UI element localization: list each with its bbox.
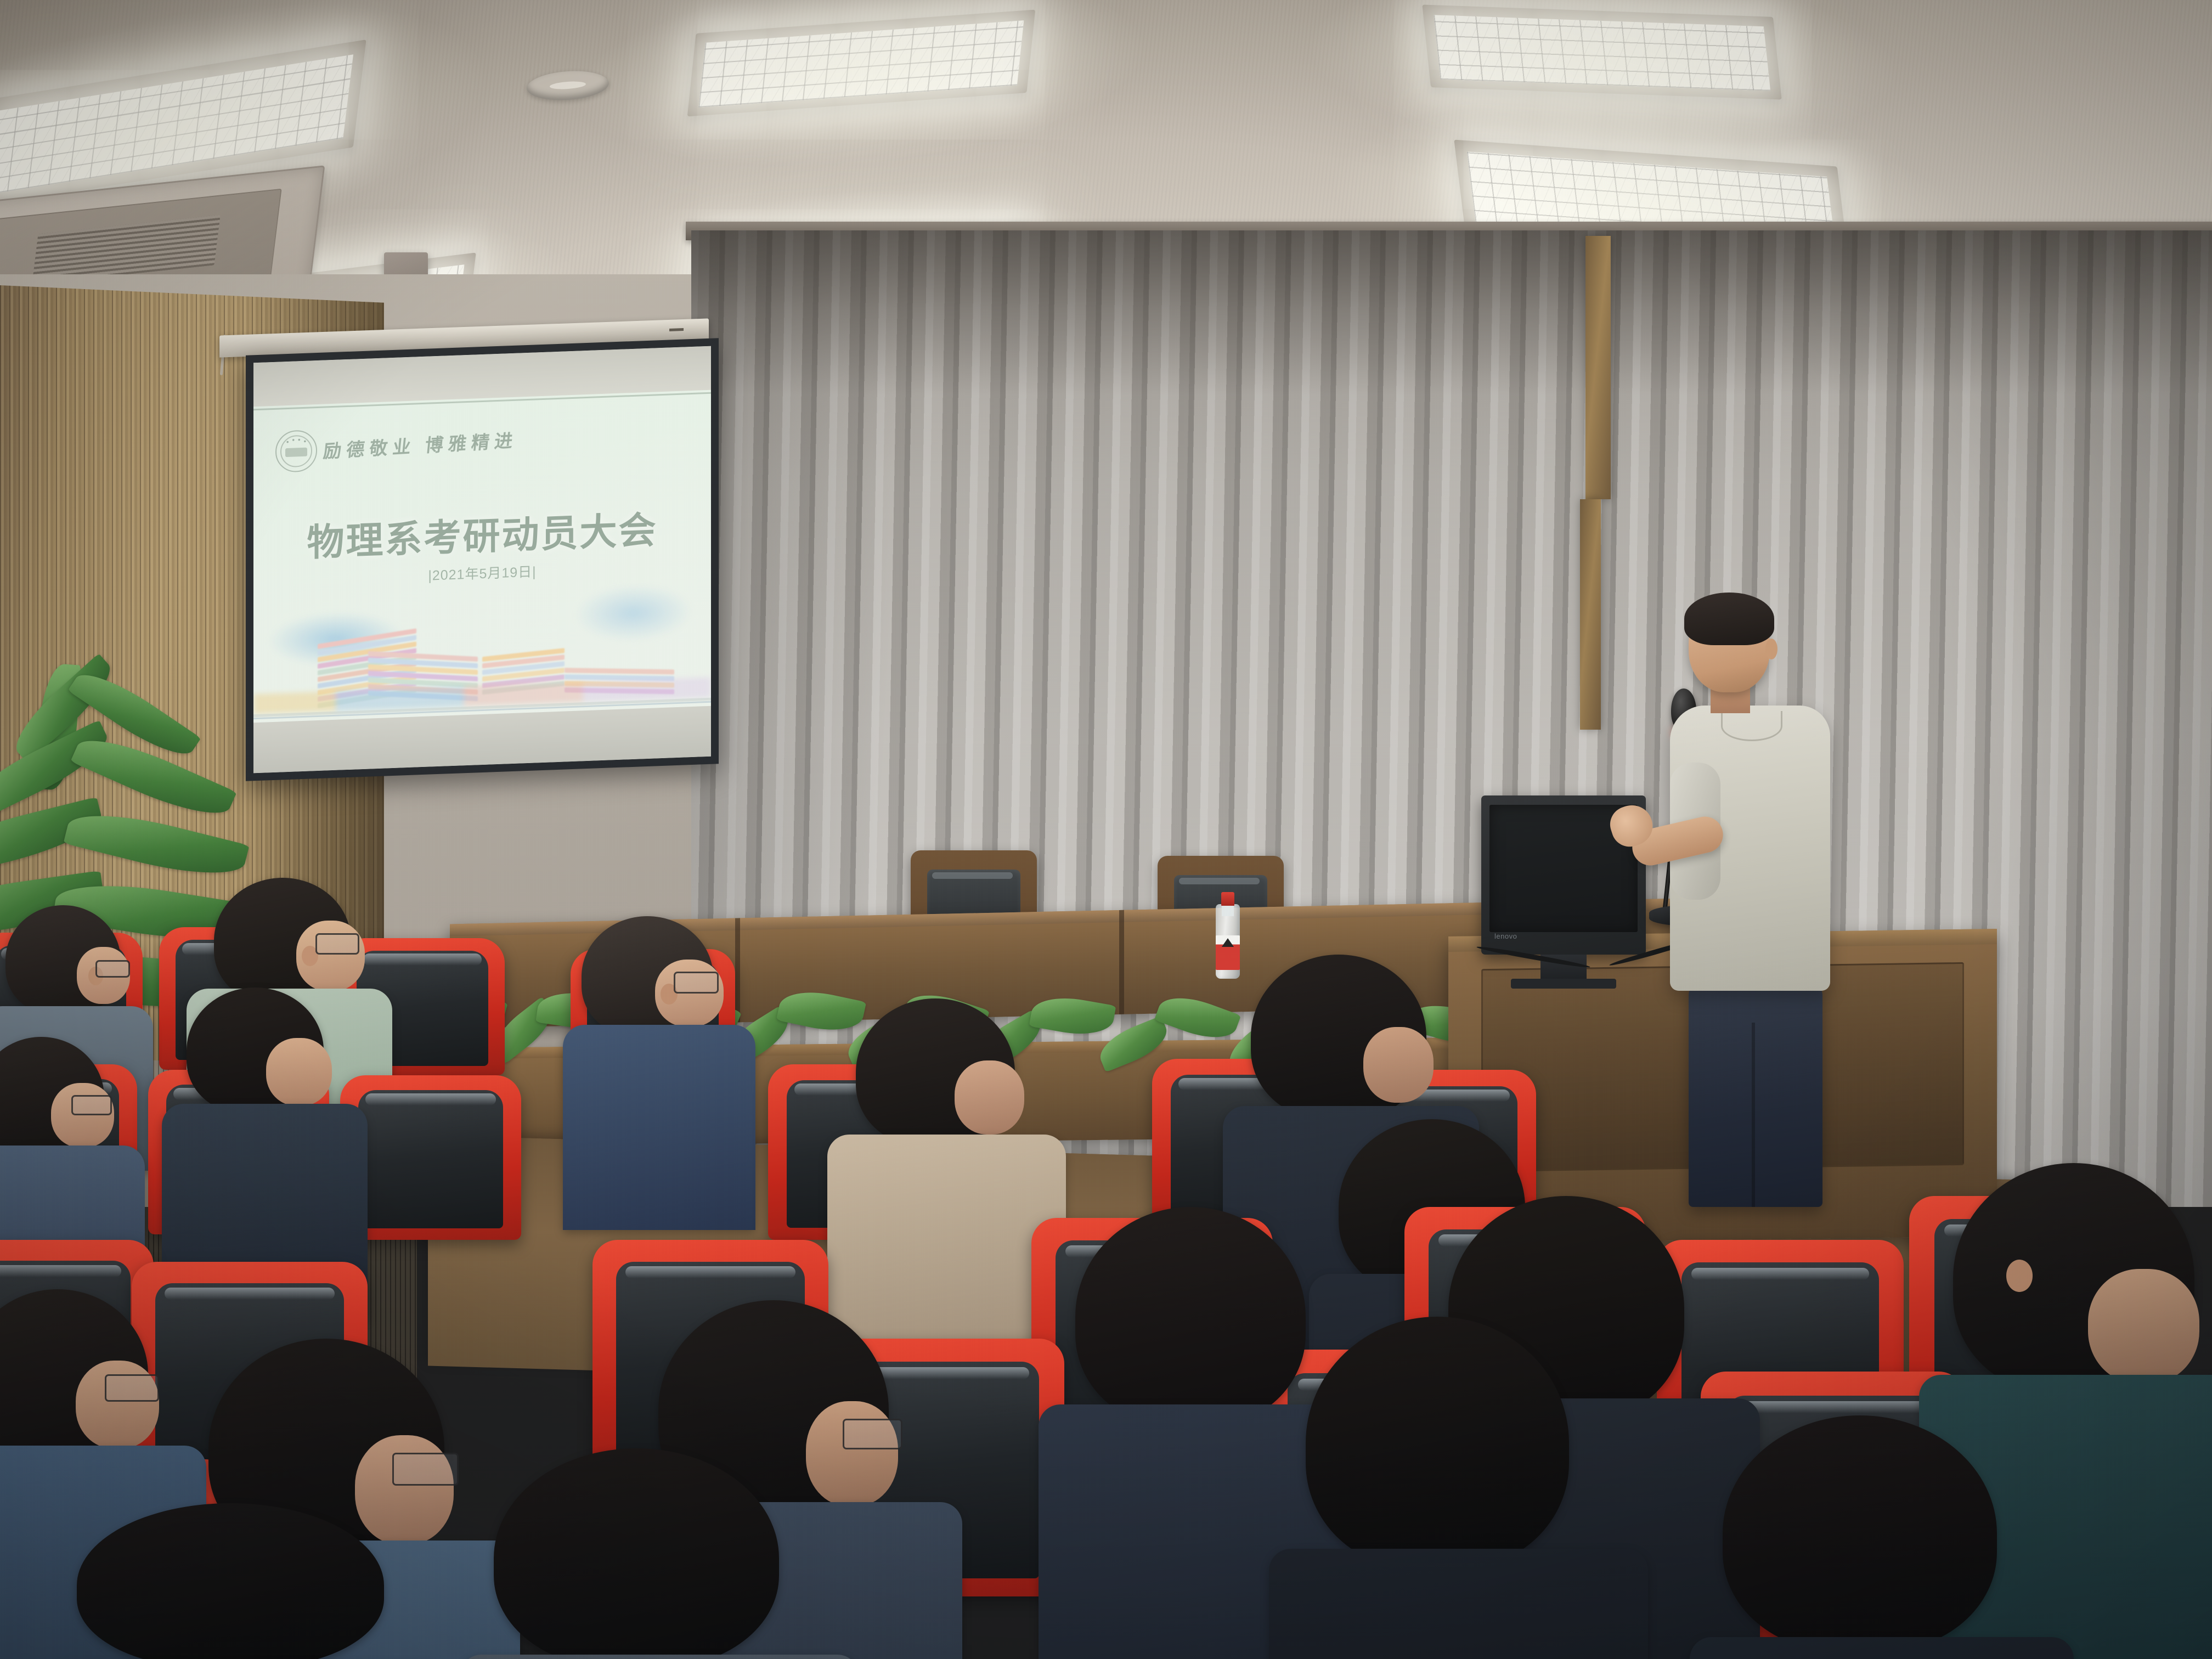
eyeglasses-icon	[95, 960, 130, 978]
audience-seating-area	[0, 856, 2212, 1659]
eyeglasses-icon	[674, 972, 719, 994]
presenter-hair	[1684, 592, 1774, 645]
wood-pilaster	[1585, 236, 1611, 499]
audience-member	[856, 998, 1015, 1147]
eyeglasses-icon	[105, 1374, 159, 1402]
lecture-hall-photo: 励德敬业 博雅精进 物理系考研动员大会 |2021年5月19日|	[0, 0, 2212, 1659]
audience-member	[494, 1448, 779, 1659]
audience-member	[1953, 1163, 2194, 1393]
audience-member	[77, 1503, 384, 1659]
audience-member	[214, 878, 351, 1004]
eyeglasses-icon	[71, 1095, 112, 1115]
audience-member	[1251, 955, 1426, 1119]
eyeglasses-icon	[843, 1419, 902, 1449]
audience-member	[0, 1037, 104, 1158]
audience-member	[187, 988, 324, 1114]
eyeglasses-icon	[392, 1453, 458, 1486]
audience-member	[582, 916, 713, 1037]
projection-screen: 励德敬业 博雅精进 物理系考研动员大会 |2021年5月19日|	[246, 338, 719, 781]
wood-pilaster	[1580, 499, 1601, 730]
eyeglasses-icon	[315, 933, 359, 955]
audience-member	[1075, 1207, 1306, 1426]
slide-motto: 励德敬业 博雅精进	[322, 426, 519, 464]
ceiling-light-fixture	[1422, 5, 1781, 100]
audience-member	[5, 905, 121, 1015]
presentation-slide: 励德敬业 博雅精进 物理系考研动员大会 |2021年5月19日|	[253, 390, 711, 725]
audience-member	[1306, 1317, 1569, 1569]
slide-artwork	[253, 568, 711, 722]
audience-member	[1723, 1415, 1997, 1651]
audience-member	[0, 1289, 148, 1459]
university-seal-icon	[275, 430, 317, 473]
